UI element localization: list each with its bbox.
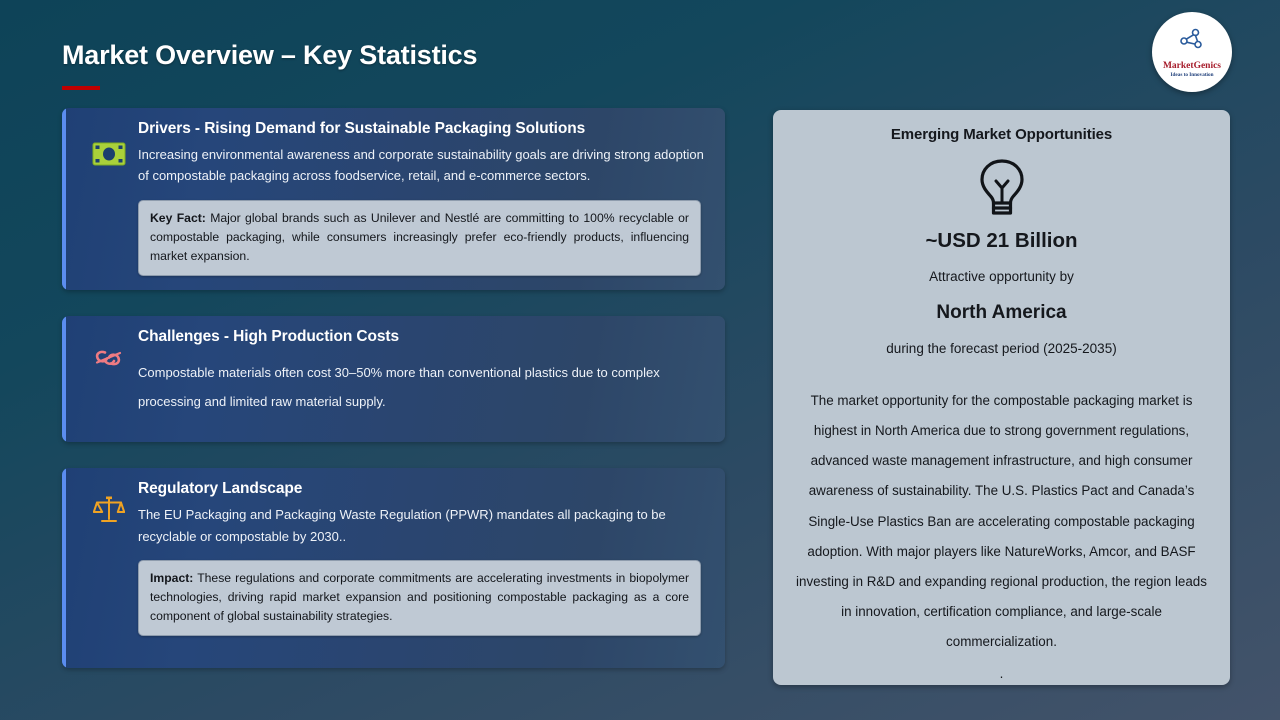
callout-wrapper: Key Fact: Major global brands such as Un…: [88, 200, 709, 276]
broken-link-icon: [88, 338, 130, 378]
opportunity-region: North America: [795, 302, 1208, 324]
company-logo: MarketGenics Ideas to Innovation: [1152, 12, 1232, 92]
callout-wrapper: Impact: These regulations and corporate …: [88, 560, 709, 636]
callout-text: These regulations and corporate commitme…: [150, 571, 689, 623]
logo-name: MarketGenics: [1163, 62, 1221, 72]
lightbulb-icon: [795, 157, 1208, 219]
card-description: The EU Packaging and Packaging Waste Reg…: [138, 504, 709, 547]
card-regulatory[interactable]: Regulatory Landscape The EU Packaging an…: [62, 468, 725, 668]
title-accent-rule: [62, 86, 100, 90]
opportunity-subtitle: Attractive opportunity by: [795, 269, 1208, 284]
card-drivers[interactable]: Drivers - Rising Demand for Sustainable …: [62, 108, 725, 290]
card-description: Compostable materials often cost 30–50% …: [138, 358, 709, 417]
card-title: Regulatory Landscape: [138, 480, 709, 498]
card-title: Drivers - Rising Demand for Sustainable …: [138, 120, 709, 138]
balance-scale-icon: [88, 490, 130, 530]
card-challenges[interactable]: Challenges - High Production Costs Compo…: [62, 316, 725, 443]
trailing-mark: .: [795, 659, 1208, 685]
callout-label: Key Fact:: [150, 211, 206, 225]
logo-tagline: Ideas to Innovation: [1171, 73, 1214, 78]
opportunity-value: ~USD 21 Billion: [795, 229, 1208, 253]
impact-callout: Impact: These regulations and corporate …: [138, 560, 701, 636]
panel-title: Emerging Market Opportunities: [795, 126, 1208, 143]
molecule-node-icon: [1179, 28, 1205, 59]
emerging-opportunities-panel: Emerging Market Opportunities ~USD 21 Bi…: [773, 110, 1230, 685]
forecast-period: during the forecast period (2025-2035): [795, 341, 1208, 356]
callout-label: Impact:: [150, 571, 193, 585]
insight-cards-column: Drivers - Rising Demand for Sustainable …: [62, 108, 725, 668]
money-banknote-icon: [88, 134, 130, 174]
page-title: Market Overview – Key Statistics: [62, 40, 477, 71]
card-title: Challenges - High Production Costs: [138, 328, 709, 346]
key-fact-callout: Key Fact: Major global brands such as Un…: [138, 200, 701, 276]
card-description: Increasing environmental awareness and c…: [138, 144, 709, 187]
panel-paragraph: The market opportunity for the compostab…: [795, 386, 1208, 657]
callout-text: Major global brands such as Unilever and…: [150, 211, 689, 263]
